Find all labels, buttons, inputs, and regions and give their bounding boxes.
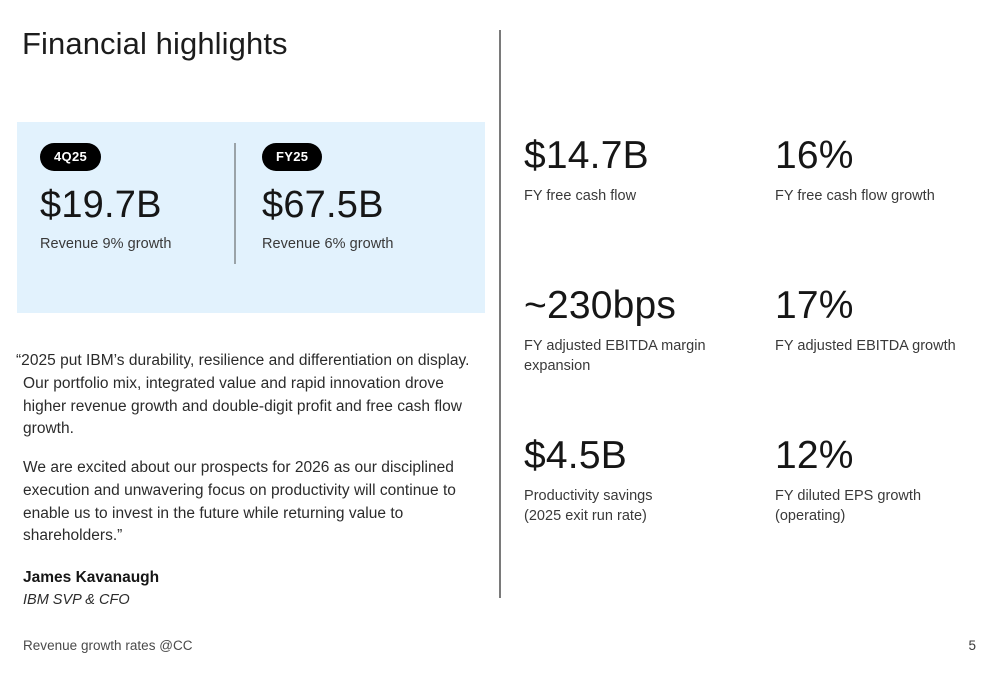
revenue-label-fy25: Revenue 6% growth	[262, 236, 393, 252]
metric-value: $4.5B	[524, 436, 764, 477]
revenue-cell-fy25: FY25 $67.5B Revenue 6% growth	[262, 143, 393, 252]
revenue-cell-4q25: 4Q25 $19.7B Revenue 9% growth	[40, 143, 171, 252]
revenue-value-4q25: $19.7B	[40, 185, 171, 227]
metric-row-3: $4.5B Productivity savings (2025 exit ru…	[524, 436, 984, 586]
metric-label: FY diluted EPS growth (operating)	[775, 487, 1000, 526]
metric-ebitda-margin-expansion: ~230bps FY adjusted EBITDA margin expans…	[524, 286, 764, 376]
metric-value: ~230bps	[524, 286, 764, 327]
metric-value: 12%	[775, 436, 1000, 477]
revenue-value-fy25: $67.5B	[262, 185, 393, 227]
metric-diluted-eps-growth: 12% FY diluted EPS growth (operating)	[775, 436, 1000, 526]
quote-paragraph-1: “2025 put IBM’s durability, resilience a…	[16, 350, 488, 441]
metric-productivity-savings: $4.5B Productivity savings (2025 exit ru…	[524, 436, 764, 526]
revenue-cell-divider	[234, 143, 236, 264]
metric-label: FY free cash flow	[524, 187, 764, 207]
metric-value: 17%	[775, 286, 1000, 327]
author-role: IBM SVP & CFO	[23, 591, 159, 611]
right-column-metrics: $14.7B FY free cash flow 16% FY free cas…	[524, 136, 984, 586]
period-badge-fy25: FY25	[262, 143, 322, 171]
executive-quote: “2025 put IBM’s durability, resilience a…	[16, 350, 488, 548]
quote-paragraph-2: We are excited about our prospects for 2…	[16, 457, 488, 548]
metric-row-2: ~230bps FY adjusted EBITDA margin expans…	[524, 286, 984, 436]
metric-value: 16%	[775, 136, 1000, 177]
metric-label: FY adjusted EBITDA growth	[775, 337, 1000, 357]
author-name: James Kavanaugh	[23, 568, 159, 589]
page-number: 5	[968, 638, 976, 653]
metric-label: FY free cash flow growth	[775, 187, 1000, 207]
metric-ebitda-growth: 17% FY adjusted EBITDA growth	[775, 286, 1000, 357]
footnote: Revenue growth rates @CC	[23, 638, 193, 653]
column-divider	[499, 30, 501, 598]
metric-label: FY adjusted EBITDA margin expansion	[524, 337, 764, 376]
revenue-highlight-box: 4Q25 $19.7B Revenue 9% growth FY25 $67.5…	[17, 122, 485, 313]
period-badge-4q25: 4Q25	[40, 143, 101, 171]
metric-fy-free-cash-flow: $14.7B FY free cash flow	[524, 136, 764, 207]
metric-label: Productivity savings (2025 exit run rate…	[524, 487, 764, 526]
metric-row-1: $14.7B FY free cash flow 16% FY free cas…	[524, 136, 984, 286]
metric-fy-free-cash-flow-growth: 16% FY free cash flow growth	[775, 136, 1000, 207]
revenue-label-4q25: Revenue 9% growth	[40, 236, 171, 252]
quote-attribution: James Kavanaugh IBM SVP & CFO	[23, 568, 159, 610]
left-column: 4Q25 $19.7B Revenue 9% growth FY25 $67.5…	[0, 0, 499, 685]
metric-value: $14.7B	[524, 136, 764, 177]
slide-financial-highlights: Financial highlights 4Q25 $19.7B Revenue…	[0, 0, 1000, 685]
